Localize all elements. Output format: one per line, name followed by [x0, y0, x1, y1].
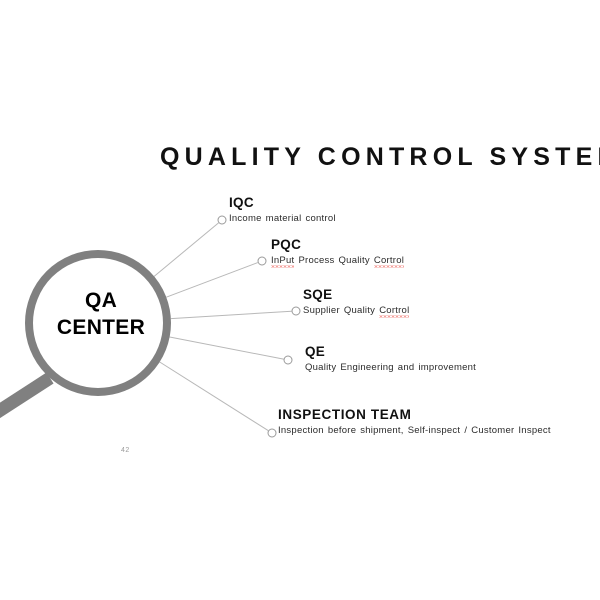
branch-pqc[interactable]: PQC InPutProcessQualityCortrol [271, 238, 408, 268]
word: Process [298, 255, 334, 266]
word: Engineering [340, 362, 393, 373]
word: Inspection [278, 425, 324, 436]
branch-inspection-team[interactable]: INSPECTION TEAM Inspectionbeforeshipment… [278, 408, 555, 436]
word: Quality [344, 305, 375, 316]
word: and [398, 362, 415, 373]
branch-qe-title: QE [305, 345, 480, 360]
branch-sqe-title: SQE [303, 288, 413, 303]
branch-iqc-description: Incomematerialcontrol [229, 213, 340, 224]
word: Inspect [518, 425, 550, 436]
word: shipment, [360, 425, 403, 436]
connector-marker-pqc [258, 257, 266, 265]
connector-marker-qe [284, 356, 292, 364]
word: Customer [471, 425, 514, 436]
word: improvement [418, 362, 476, 373]
word: Quality [339, 255, 370, 266]
misspelled-word: Cortrol [374, 255, 404, 268]
branch-qe-description: QualityEngineeringandimprovement [305, 362, 480, 373]
word: Supplier [303, 305, 340, 316]
connector-marker-inspection-team [268, 429, 276, 437]
word: Quality [305, 362, 336, 373]
misspelled-word: Cortrol [379, 305, 409, 318]
branch-inspection-team-description: Inspectionbeforeshipment,Self-inspect/Cu… [278, 425, 555, 436]
magnifier-label: QA CENTER [28, 288, 174, 342]
slide-canvas: QUALITY CONTROL SYSTEM QA CENTER IQC Inc… [0, 0, 600, 600]
word: / [464, 425, 467, 436]
word: Income [229, 213, 262, 224]
branch-inspection-team-title: INSPECTION TEAM [278, 408, 555, 423]
branch-qe[interactable]: QE QualityEngineeringandimprovement [305, 345, 480, 373]
word: Self-inspect [408, 425, 461, 436]
branch-iqc[interactable]: IQC Incomematerialcontrol [229, 196, 340, 224]
connector-marker-iqc [218, 216, 226, 224]
magnifier-label-line2: CENTER [28, 315, 174, 342]
word: material [266, 213, 302, 224]
branch-iqc-title: IQC [229, 196, 340, 211]
page-number: 42 [121, 447, 130, 454]
magnifier-label-line1: QA [28, 288, 174, 315]
branch-pqc-description: InPutProcessQualityCortrol [271, 255, 408, 268]
word: before [328, 425, 356, 436]
misspelled-word: InPut [271, 255, 294, 268]
word: control [305, 213, 335, 224]
magnifier-handle [0, 378, 50, 413]
branch-sqe[interactable]: SQE SupplierQualityCortrol [303, 288, 413, 318]
connector-marker-sqe [292, 307, 300, 315]
branch-sqe-description: SupplierQualityCortrol [303, 305, 413, 318]
branch-pqc-title: PQC [271, 238, 408, 253]
